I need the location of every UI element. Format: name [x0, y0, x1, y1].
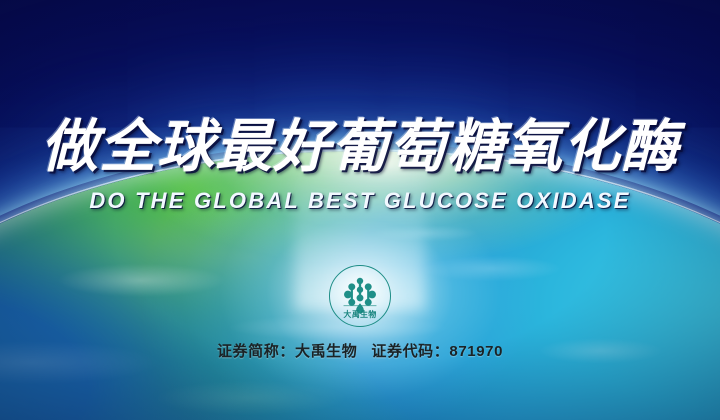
- stock-name-value: 大禹生物: [295, 343, 357, 360]
- page-title: 做全球最好葡萄糖氧化酶: [41, 118, 679, 176]
- page-subtitle: DO THE GLOBAL BEST GLUCOSE OXIDASE: [0, 188, 720, 214]
- promo-banner: 做全球最好葡萄糖氧化酶 DO THE GLOBAL BEST GLUCOSE O…: [0, 0, 720, 420]
- headline-container: 做全球最好葡萄糖氧化酶: [0, 118, 720, 176]
- logo-wordmark: 大禹生物: [330, 309, 390, 320]
- stock-code-value: 871970: [449, 343, 503, 360]
- stock-code-label: 证券代码：: [371, 343, 449, 360]
- stock-name-label: 证券简称：: [217, 343, 295, 360]
- company-logo: 大禹生物: [329, 265, 391, 327]
- stock-info-line: 证券简称：大禹生物证券代码：871970: [0, 340, 720, 361]
